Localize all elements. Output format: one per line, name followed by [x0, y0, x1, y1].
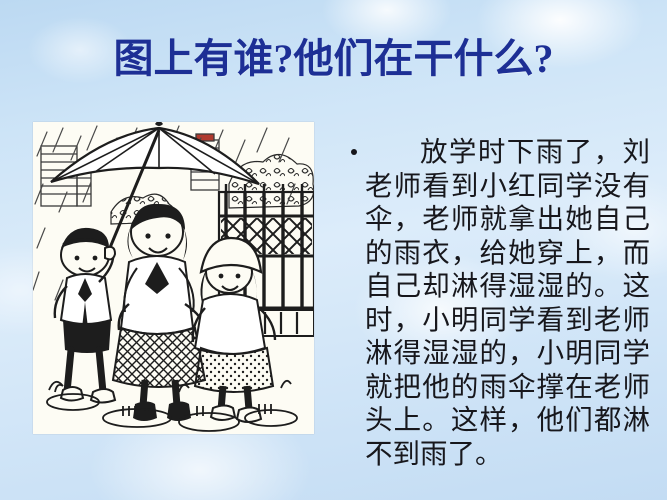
- body-paragraph: 放学时下雨了，刘老师看到小红同学没有伞，老师就拿出她自己的雨衣，给她穿上，而自己…: [345, 136, 650, 471]
- page-title: 图上有谁?他们在干什么?: [0, 36, 667, 82]
- slide-canvas: 图上有谁?他们在干什么?: [0, 0, 667, 500]
- illustration-image: [33, 122, 314, 434]
- bullet-point-icon: [351, 149, 357, 155]
- rain-scene-drawing: [33, 122, 314, 434]
- content-bullet-block: 放学时下雨了，刘老师看到小红同学没有伞，老师就拿出她自己的雨衣，给她穿上，而自己…: [345, 136, 650, 471]
